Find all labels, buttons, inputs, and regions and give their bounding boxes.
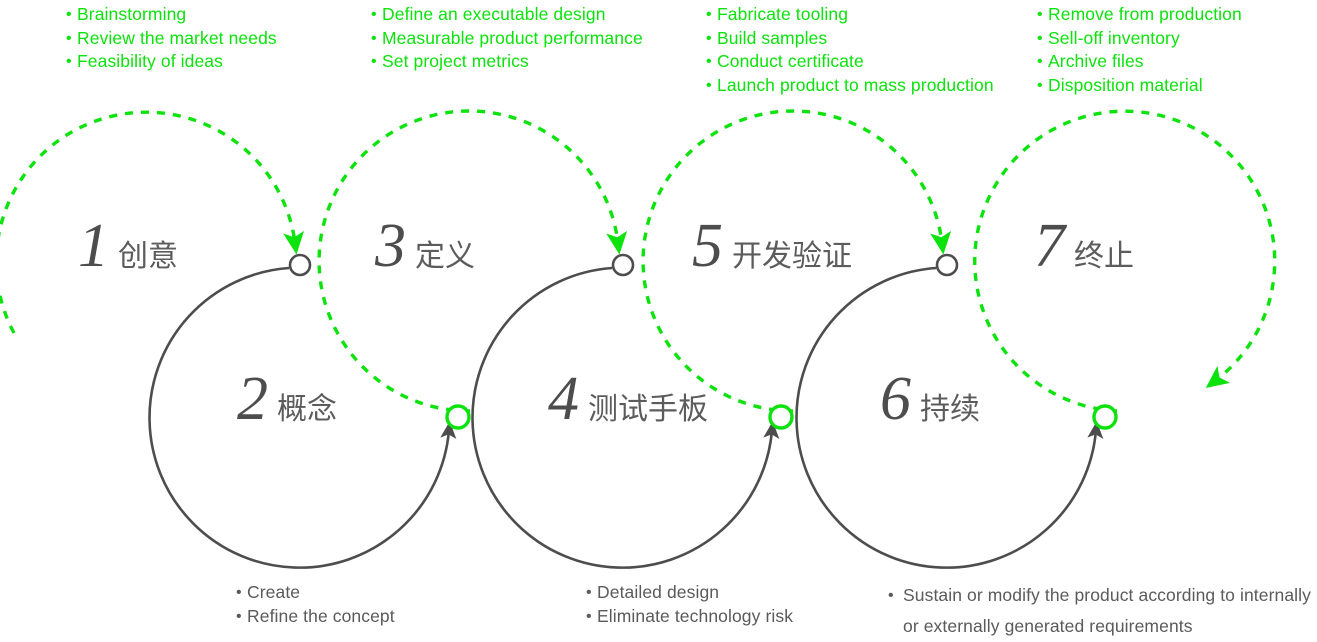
stage-name: 定义 — [415, 242, 475, 272]
note-item: Archive files — [1037, 50, 1242, 74]
node-marker-stage-3[interactable] — [613, 255, 633, 275]
stage-number: 6 — [880, 368, 911, 430]
stage-name: 终止 — [1074, 242, 1134, 272]
note-item: Review the market needs — [66, 27, 277, 51]
node-marker-stage-5[interactable] — [937, 255, 957, 275]
note-item: Set project metrics — [371, 50, 643, 74]
note-item: Create — [236, 581, 395, 605]
stage-number: 3 — [375, 215, 406, 277]
note-item: Launch product to mass production — [706, 74, 994, 98]
note-item: Detailed design — [586, 581, 793, 605]
stage-label-5: 5 开发验证 — [692, 215, 852, 277]
stage-name: 测试手板 — [588, 395, 708, 425]
bottom-notes-stage-6: Sustain or modify the product according … — [888, 580, 1313, 642]
top-notes-stage-3: Define an executable design Measurable p… — [371, 3, 643, 74]
note-item: Refine the concept — [236, 605, 395, 629]
note-item: Brainstorming — [66, 3, 277, 27]
node-marker-stage-4[interactable] — [770, 406, 792, 428]
top-notes-stage-7: Remove from production Sell-off inventor… — [1037, 3, 1242, 97]
top-notes-stage-1: Brainstorming Review the market needs Fe… — [66, 3, 277, 74]
node-marker-stage-6[interactable] — [1094, 406, 1116, 428]
stage-label-7: 7 终止 — [1034, 215, 1134, 277]
stage-label-3: 3 定义 — [375, 215, 475, 277]
node-marker-stage-2[interactable] — [447, 406, 469, 428]
stage-name: 开发验证 — [732, 242, 852, 272]
stage-label-4: 4 测试手板 — [548, 368, 708, 430]
stage-label-2: 2 概念 — [237, 368, 337, 430]
note-item: Feasibility of ideas — [66, 50, 277, 74]
note-item: Disposition material — [1037, 74, 1242, 98]
stage-name: 创意 — [118, 242, 178, 272]
top-notes-stage-5: Fabricate tooling Build samples Conduct … — [706, 3, 994, 97]
note-item: Eliminate technology risk — [586, 605, 793, 629]
stage-label-1: 1 创意 — [78, 215, 178, 277]
bottom-notes-stage-4: Detailed design Eliminate technology ris… — [586, 581, 793, 628]
note-item: Sell-off inventory — [1037, 27, 1242, 51]
note-item: Remove from production — [1037, 3, 1242, 27]
note-item: Define an executable design — [371, 3, 643, 27]
stage-number: 5 — [692, 215, 723, 277]
stage-name: 概念 — [277, 395, 337, 425]
note-item: Fabricate tooling — [706, 3, 994, 27]
note-item: Measurable product performance — [371, 27, 643, 51]
stage-name: 持续 — [920, 395, 980, 425]
diagram-canvas: Brainstorming Review the market needs Fe… — [0, 0, 1317, 637]
stage-number: 1 — [78, 215, 109, 277]
stage-number: 4 — [548, 368, 579, 430]
stage-label-6: 6 持续 — [880, 368, 980, 430]
note-item: Sustain or modify the product according … — [888, 580, 1313, 642]
stage-number: 7 — [1034, 215, 1065, 277]
bottom-notes-stage-2: Create Refine the concept — [236, 581, 395, 628]
node-marker-stage-1[interactable] — [290, 255, 310, 275]
stage-number: 2 — [237, 368, 268, 430]
note-item: Conduct certificate — [706, 50, 994, 74]
note-item: Build samples — [706, 27, 994, 51]
